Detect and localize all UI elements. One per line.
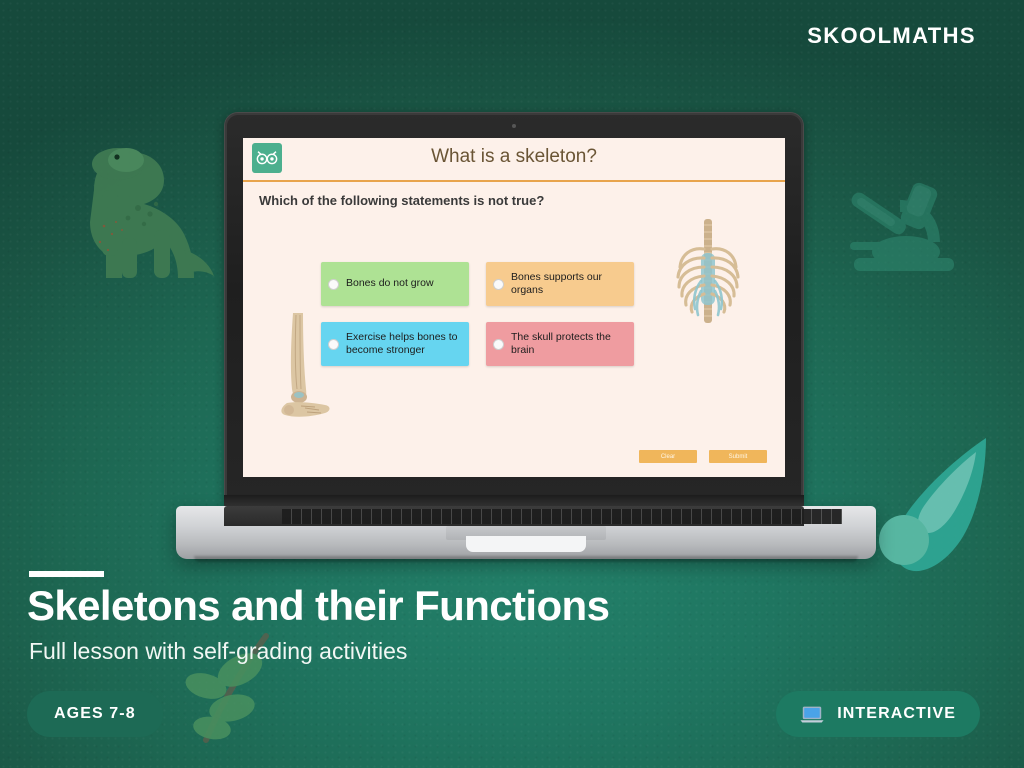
title-rule [29, 571, 104, 577]
interactive-badge-label: INTERACTIVE [837, 705, 956, 723]
keyboard [282, 509, 842, 524]
lesson-slide: What is a skeleton? Which of the followi… [243, 138, 785, 477]
base-notch [466, 536, 586, 552]
question-prompt: Which of the following statements is not… [259, 193, 544, 208]
laptop-shadow [194, 556, 858, 562]
option-a-radio[interactable] [328, 279, 339, 290]
options-row-2: Exercise helps bones to become stronger … [321, 322, 635, 366]
age-badge-label: AGES 7-8 [54, 705, 136, 723]
slide-title: What is a skeleton? [243, 146, 785, 168]
laptop-icon [800, 705, 824, 724]
brand-wordmark: SKOOLMATHS [807, 23, 976, 49]
option-d[interactable]: The skull protects the brain [486, 322, 634, 366]
option-a-label: Bones do not grow [346, 277, 434, 290]
webcam-icon [512, 124, 516, 128]
option-a[interactable]: Bones do not grow [321, 262, 469, 306]
option-c-label: Exercise helps bones to become stronger [346, 331, 462, 357]
option-d-label: The skull protects the brain [511, 331, 627, 357]
keyboard-well [224, 506, 804, 526]
laptop-base [176, 506, 876, 559]
interactive-badge: INTERACTIVE [776, 691, 980, 737]
leg-foot-skeleton-image [273, 311, 337, 421]
slide-header: What is a skeleton? [243, 138, 785, 182]
option-c[interactable]: Exercise helps bones to become stronger [321, 322, 469, 366]
options-row-1: Bones do not grow Bones supports our org… [321, 262, 635, 306]
laptop-screen: What is a skeleton? Which of the followi… [243, 138, 785, 477]
page-subtitle: Full lesson with self-grading activities [29, 638, 407, 665]
option-b-radio[interactable] [493, 279, 504, 290]
submit-button[interactable]: Submit [709, 450, 767, 463]
options-grid: Bones do not grow Bones supports our org… [321, 262, 635, 382]
age-badge: AGES 7-8 [27, 691, 163, 737]
slide-action-buttons: Clear Submit [639, 450, 767, 463]
option-d-radio[interactable] [493, 339, 504, 350]
rib-cage-skeleton-image [671, 219, 745, 327]
clear-button[interactable]: Clear [639, 450, 697, 463]
laptop-lid: What is a skeleton? Which of the followi… [224, 112, 804, 504]
page-title: Skeletons and their Functions [27, 582, 609, 630]
option-b[interactable]: Bones supports our organs [486, 262, 634, 306]
option-b-label: Bones supports our organs [511, 271, 627, 297]
laptop-mockup: What is a skeleton? Which of the followi… [176, 112, 876, 559]
